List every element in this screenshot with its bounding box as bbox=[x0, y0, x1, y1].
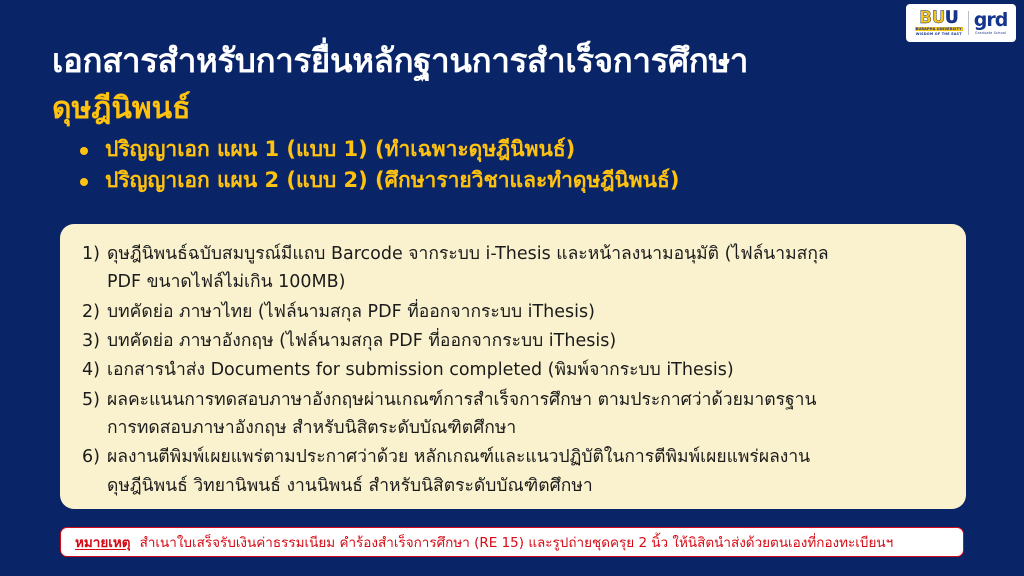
list-item: ปริญญาเอก แผน 2 (แบบ 2) (ศึกษารายวิชาและ… bbox=[80, 165, 960, 196]
document-item-text: ดุษฎีนิพนธ์ฉบับสมบูรณ์มีแถบ Barcode จากร… bbox=[107, 240, 940, 297]
page-title: เอกสารสำหรับการยื่นหลักฐานการสำเร็จการศึ… bbox=[52, 34, 748, 87]
bullet-dot-icon bbox=[80, 178, 88, 186]
list-item: ปริญญาเอก แผน 1 (แบบ 1) (ทำเฉพาะดุษฎีนิพ… bbox=[80, 134, 960, 165]
organization-logo: BUU BURAPHA UNIVERSITY WISDOM OF THE EAS… bbox=[906, 4, 1016, 42]
document-item-line2: ดุษฎีนิพนธ์ วิทยานิพนธ์ งานนิพนธ์ สำหรับ… bbox=[107, 472, 940, 500]
document-item-number: 1) bbox=[82, 240, 107, 268]
buu-logo-mark: BUU BURAPHA UNIVERSITY WISDOM OF THE EAS… bbox=[915, 10, 963, 36]
document-item-number: 5) bbox=[82, 386, 107, 414]
bullet-dot-icon bbox=[80, 147, 88, 155]
document-item-text: ผลคะแนนการทดสอบภาษาอังกฤษผ่านเกณฑ์การสำเ… bbox=[107, 386, 940, 443]
document-item-text: บทคัดย่อ ภาษาอังกฤษ (ไฟล์นามสกุล PDF ที่… bbox=[107, 327, 940, 355]
logo-divider bbox=[968, 11, 969, 35]
document-item: 3) บทคัดย่อ ภาษาอังกฤษ (ไฟล์นามสกุล PDF … bbox=[82, 327, 940, 355]
document-item-text: บทคัดย่อ ภาษาไทย (ไฟล์นามสกุล PDF ที่ออก… bbox=[107, 298, 940, 326]
document-item-line1: ผลงานตีพิมพ์เผยแพร่ตามประกาศว่าด้วย หลัก… bbox=[107, 443, 940, 471]
slide-canvas: BUU BURAPHA UNIVERSITY WISDOM OF THE EAS… bbox=[0, 0, 1024, 576]
list-item-label: ปริญญาเอก แผน 1 (แบบ 1) (ทำเฉพาะดุษฎีนิพ… bbox=[105, 134, 575, 165]
document-item-number: 3) bbox=[82, 327, 107, 355]
document-item: 1) ดุษฎีนิพนธ์ฉบับสมบูรณ์มีแถบ Barcode จ… bbox=[82, 240, 940, 297]
documents-panel: 1) ดุษฎีนิพนธ์ฉบับสมบูรณ์มีแถบ Barcode จ… bbox=[60, 224, 966, 509]
document-item-line2: การทดสอบภาษาอังกฤษ สำหรับนิสิตระดับบัณฑิ… bbox=[107, 414, 940, 442]
document-item: 4) เอกสารนำส่ง Documents for submission … bbox=[82, 356, 940, 384]
footer-note-bar: หมายเหตุ สำเนาใบเสร็จรับเงินค่าธรรมเนียม… bbox=[60, 527, 964, 557]
buu-caption-name: BURAPHA UNIVERSITY bbox=[915, 27, 963, 31]
document-item-text: ผลงานตีพิมพ์เผยแพร่ตามประกาศว่าด้วย หลัก… bbox=[107, 443, 940, 500]
buu-logo-caption: BURAPHA UNIVERSITY bbox=[915, 28, 963, 31]
footer-note-label: หมายเหตุ bbox=[75, 531, 131, 553]
document-item-line2: PDF ขนาดไฟล์ไม่เกิน 100MB) bbox=[107, 268, 940, 296]
grd-wordmark: grd bbox=[974, 11, 1008, 30]
document-item-line1: บทคัดย่อ ภาษาไทย (ไฟล์นามสกุล PDF ที่ออก… bbox=[107, 298, 940, 326]
grd-logo-caption: Graduate School bbox=[975, 32, 1006, 35]
document-item-line1: บทคัดย่อ ภาษาอังกฤษ (ไฟล์นามสกุล PDF ที่… bbox=[107, 327, 940, 355]
document-item: 5) ผลคะแนนการทดสอบภาษาอังกฤษผ่านเกณฑ์การ… bbox=[82, 386, 940, 443]
degree-plan-list: ปริญญาเอก แผน 1 (แบบ 1) (ทำเฉพาะดุษฎีนิพ… bbox=[80, 134, 960, 196]
document-item-line1: ดุษฎีนิพนธ์ฉบับสมบูรณ์มีแถบ Barcode จากร… bbox=[107, 240, 940, 268]
buu-wordmark: BUU bbox=[919, 10, 958, 27]
document-item-number: 4) bbox=[82, 356, 107, 384]
buu-logo-caption-sub: WISDOM OF THE EAST bbox=[916, 33, 962, 36]
document-item-number: 6) bbox=[82, 443, 107, 471]
document-item-line1: เอกสารนำส่ง Documents for submission com… bbox=[107, 356, 940, 384]
document-item-number: 2) bbox=[82, 298, 107, 326]
footer-note-text: สำเนาใบเสร็จรับเงินค่าธรรมเนียม คำร้องสำ… bbox=[140, 531, 894, 553]
document-item-line1: ผลคะแนนการทดสอบภาษาอังกฤษผ่านเกณฑ์การสำเ… bbox=[107, 386, 940, 414]
list-item-label: ปริญญาเอก แผน 2 (แบบ 2) (ศึกษารายวิชาและ… bbox=[105, 165, 679, 196]
grd-logo-mark: grd Graduate School bbox=[974, 11, 1008, 35]
document-item-text: เอกสารนำส่ง Documents for submission com… bbox=[107, 356, 940, 384]
document-item: 6) ผลงานตีพิมพ์เผยแพร่ตามประกาศว่าด้วย ห… bbox=[82, 443, 940, 500]
page-subtitle: ดุษฎีนิพนธ์ bbox=[52, 85, 191, 132]
document-item: 2) บทคัดย่อ ภาษาไทย (ไฟล์นามสกุล PDF ที่… bbox=[82, 298, 940, 326]
